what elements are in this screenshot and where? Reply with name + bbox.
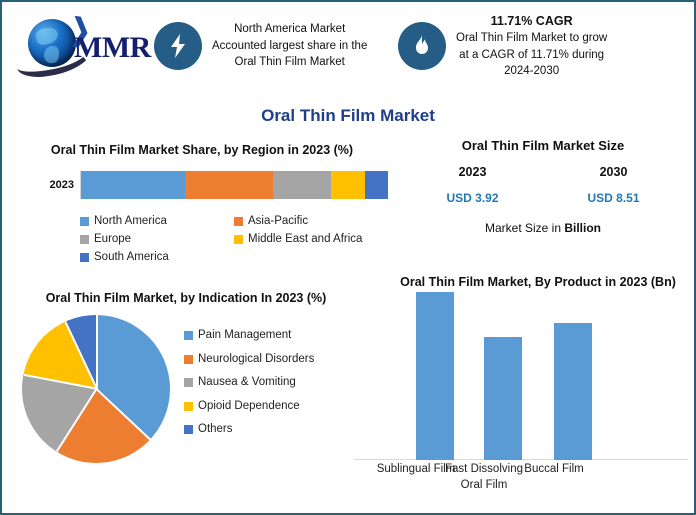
market-size-value-end: USD 8.51 bbox=[587, 191, 639, 205]
region-segment-3 bbox=[331, 171, 365, 199]
region-legend-item[interactable]: Europe bbox=[80, 231, 234, 249]
header-highlight-north-america: North America Market Accounted largest s… bbox=[154, 21, 384, 71]
pie-legend-label: Neurological Disorders bbox=[198, 354, 314, 366]
region-axis-label: 2023 bbox=[16, 179, 74, 191]
pie-legend: Pain ManagementNeurological DisordersNau… bbox=[184, 330, 314, 448]
market-size-years: 2023 2030 bbox=[402, 165, 684, 179]
region-legend-item[interactable]: Asia-Pacific bbox=[234, 213, 388, 231]
pie-legend-item[interactable]: Opioid Dependence bbox=[184, 401, 314, 413]
legend-swatch-icon bbox=[184, 425, 193, 434]
pie-slice-divider bbox=[65, 322, 98, 390]
region-legend-label: Asia-Pacific bbox=[248, 213, 308, 231]
legend-swatch-icon bbox=[234, 235, 243, 244]
product-bar bbox=[484, 337, 522, 460]
pie-chart-body: Pain ManagementNeurological DisordersNau… bbox=[16, 315, 356, 463]
cagr-line-3: 2024-2030 bbox=[504, 65, 559, 77]
product-category-label: Buccal Film bbox=[502, 462, 606, 478]
pie-slice-divider bbox=[96, 315, 98, 389]
header-bar: ❯ MMR North America Market Accounted lar… bbox=[2, 2, 694, 90]
market-size-year-end: 2030 bbox=[600, 165, 628, 179]
page-title: Oral Thin Film Market bbox=[2, 106, 694, 126]
region-legend-label: Europe bbox=[94, 231, 131, 249]
highlight-line-1: North America Market bbox=[234, 23, 345, 35]
region-chart-title: Oral Thin Film Market Share, by Region i… bbox=[16, 142, 388, 159]
market-size-value-start: USD 3.92 bbox=[446, 191, 498, 205]
region-segment-0 bbox=[81, 171, 185, 199]
pie-graphic bbox=[22, 315, 170, 463]
market-size-panel: Oral Thin Film Market Size 2023 2030 USD… bbox=[402, 138, 684, 235]
market-size-title: Oral Thin Film Market Size bbox=[402, 138, 684, 153]
cagr-line-1: Oral Thin Film Market to grow bbox=[456, 32, 607, 44]
market-size-footnote: Market Size in Billion bbox=[402, 221, 684, 235]
pie-legend-label: Pain Management bbox=[198, 330, 291, 342]
legend-swatch-icon bbox=[234, 217, 243, 226]
region-legend-item[interactable]: North America bbox=[80, 213, 234, 231]
region-legend-label: South America bbox=[94, 249, 169, 267]
region-segment-2 bbox=[273, 171, 331, 199]
header-cagr-text: 11.71% CAGR Oral Thin Film Market to gro… bbox=[456, 12, 607, 80]
market-size-values: USD 3.92 USD 8.51 bbox=[402, 191, 684, 205]
pie-chart-title: Oral Thin Film Market, by Indication In … bbox=[16, 290, 356, 307]
market-size-footnote-unit: Billion bbox=[564, 221, 601, 235]
pie-legend-item[interactable]: Nausea & Vomiting bbox=[184, 377, 314, 389]
indication-share-chart: Oral Thin Film Market, by Indication In … bbox=[16, 290, 356, 463]
legend-swatch-icon bbox=[184, 378, 193, 387]
region-segment-1 bbox=[185, 171, 272, 199]
region-legend-item[interactable]: South America bbox=[80, 249, 388, 267]
legend-swatch-icon bbox=[184, 402, 193, 411]
infographic-page: ❯ MMR North America Market Accounted lar… bbox=[0, 0, 696, 515]
header-highlight-text: North America Market Accounted largest s… bbox=[212, 21, 367, 71]
highlight-line-2: Accounted largest share in the bbox=[212, 40, 367, 52]
pie-legend-item[interactable]: Pain Management bbox=[184, 330, 314, 342]
pie-legend-label: Others bbox=[198, 424, 233, 436]
region-segment-4 bbox=[365, 171, 388, 199]
cagr-headline: 11.71% CAGR bbox=[456, 12, 607, 30]
pie-slice-divider bbox=[56, 388, 97, 451]
highlight-line-3: Oral Thin Film Market bbox=[235, 56, 345, 68]
pie-slice-divider bbox=[96, 388, 151, 440]
pie-legend-label: Nausea & Vomiting bbox=[198, 377, 296, 389]
legend-swatch-icon bbox=[184, 331, 193, 340]
product-chart-category-labels: Sublingual FilmFast DissolvingOral FilmB… bbox=[350, 462, 690, 508]
product-bar-chart: Oral Thin Film Market, By Product in 202… bbox=[350, 274, 690, 512]
pie-legend-item[interactable]: Neurological Disorders bbox=[184, 354, 314, 366]
region-share-chart: Oral Thin Film Market Share, by Region i… bbox=[16, 142, 388, 266]
product-category-label-line: Oral Film bbox=[432, 478, 536, 494]
pie-slice-divider bbox=[24, 374, 97, 389]
mmr-logo: ❯ MMR bbox=[14, 11, 154, 81]
logo-text: MMR bbox=[74, 31, 151, 65]
pie-legend-label: Opioid Dependence bbox=[198, 401, 300, 413]
market-size-footnote-prefix: Market Size in bbox=[485, 221, 564, 235]
header-highlight-cagr: 11.71% CAGR Oral Thin Film Market to gro… bbox=[398, 12, 658, 80]
cagr-line-2: at a CAGR of 11.71% during bbox=[459, 49, 604, 61]
legend-swatch-icon bbox=[80, 217, 89, 226]
product-chart-title: Oral Thin Film Market, By Product in 202… bbox=[350, 274, 690, 291]
product-bar bbox=[554, 323, 592, 460]
market-size-year-start: 2023 bbox=[459, 165, 487, 179]
pie-legend-item[interactable]: Others bbox=[184, 424, 314, 436]
region-chart-plot: 2023 bbox=[16, 167, 388, 209]
region-legend-item[interactable]: Middle East and Africa bbox=[234, 231, 388, 249]
region-stacked-bar bbox=[80, 171, 388, 199]
product-category-label-line: Buccal Film bbox=[502, 462, 606, 478]
legend-swatch-icon bbox=[80, 253, 89, 262]
lightning-bolt-icon bbox=[154, 22, 202, 70]
legend-swatch-icon bbox=[184, 355, 193, 364]
product-chart-plot: Oral Thin Film Market, By Product in 202… bbox=[350, 274, 690, 460]
region-legend: North AmericaAsia-PacificEuropeMiddle Ea… bbox=[80, 213, 388, 266]
region-legend-label: North America bbox=[94, 213, 167, 231]
flame-icon bbox=[398, 22, 446, 70]
legend-swatch-icon bbox=[80, 235, 89, 244]
region-legend-label: Middle East and Africa bbox=[248, 231, 362, 249]
product-bar bbox=[416, 292, 454, 460]
